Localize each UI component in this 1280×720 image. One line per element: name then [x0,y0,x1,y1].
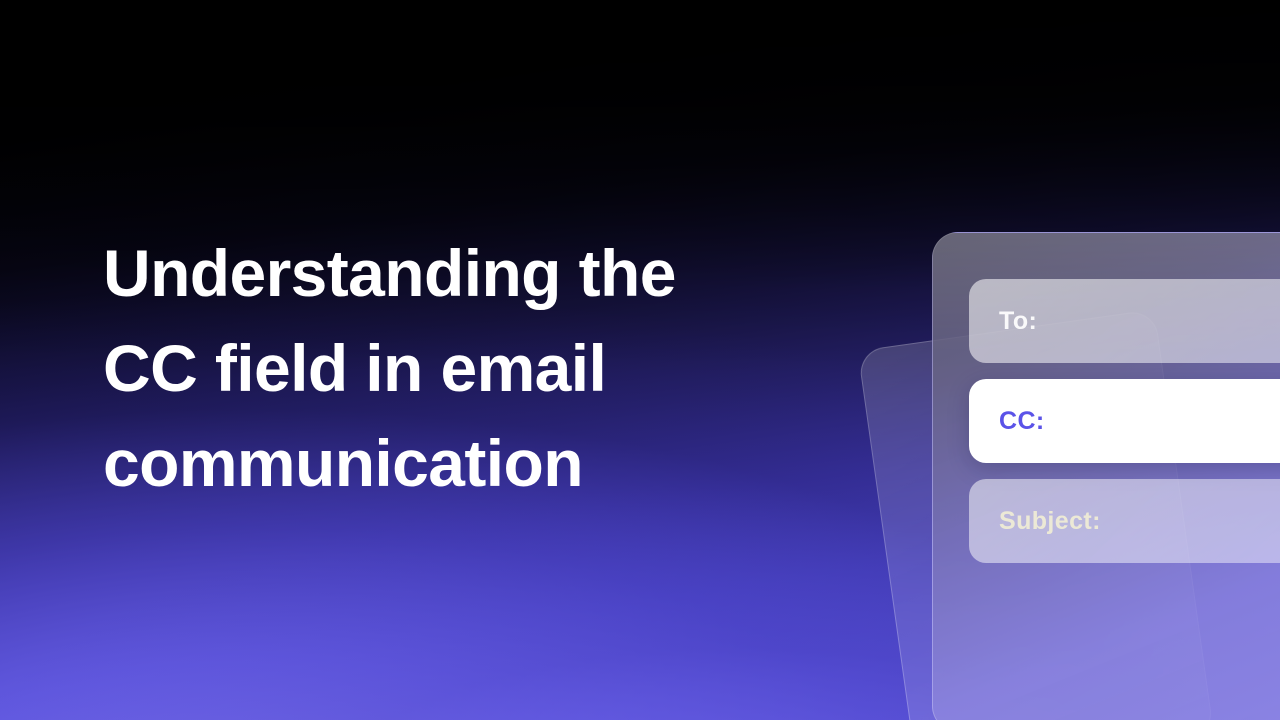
page-title: Understanding the CC field in email comm… [103,226,843,511]
hero-banner: Understanding the CC field in email comm… [0,0,1280,720]
